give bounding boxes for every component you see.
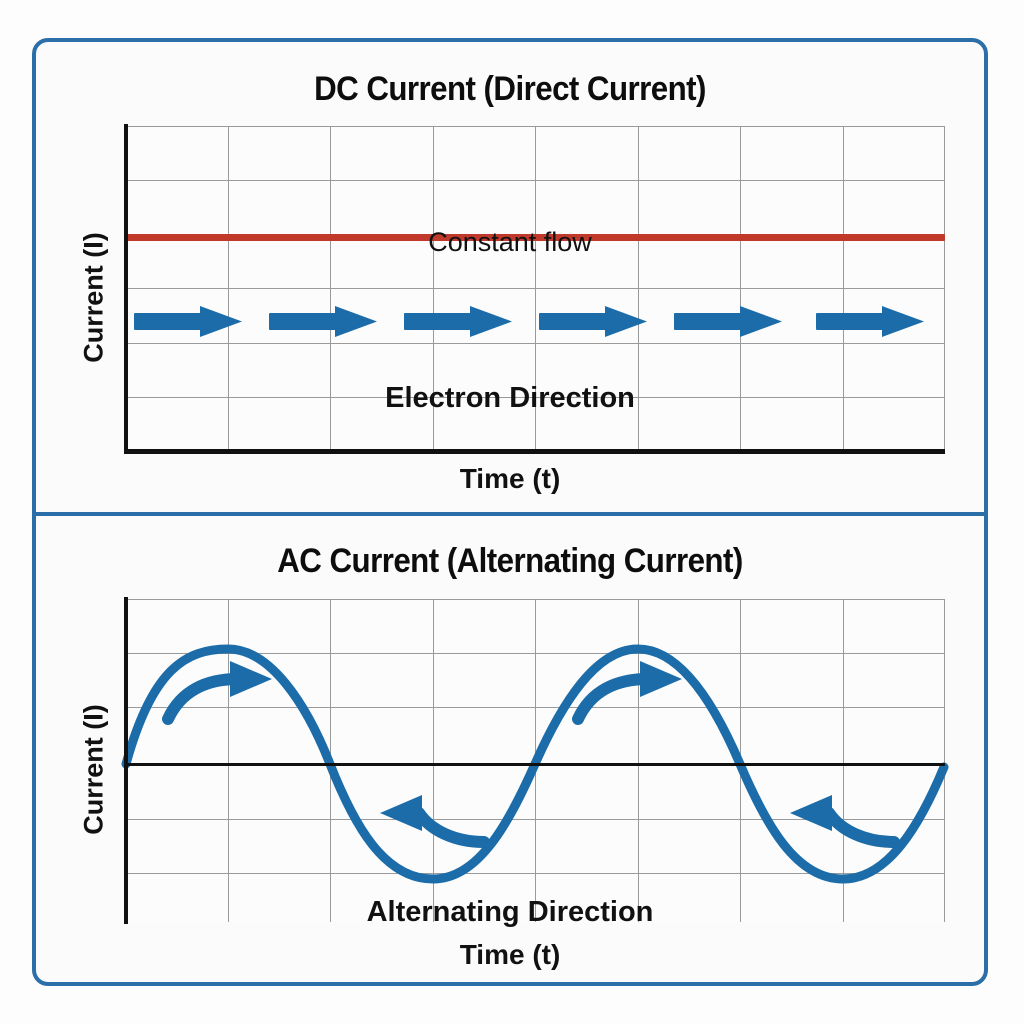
ac-y-axis-label: Current (I) [79, 690, 110, 850]
curved-right-arrow-icon-2 [578, 679, 648, 719]
ac-gridlines [126, 599, 945, 922]
diagram-canvas: DC Current (Direct Current) Current (I) [0, 0, 1024, 1024]
dc-panel-title: DC Current (Direct Current) [74, 70, 946, 109]
diagram-frame: DC Current (Direct Current) Current (I) [32, 38, 988, 986]
dc-constant-flow-label: Constant flow [36, 227, 984, 258]
dc-electron-direction-label: Electron Direction [36, 382, 984, 415]
ac-waveform [126, 599, 945, 922]
ac-panel: AC Current (Alternating Current) Current… [36, 516, 984, 986]
ac-zero-axis [126, 763, 945, 766]
curved-left-arrow-icon-1 [419, 813, 484, 842]
ac-alternating-direction-label: Alternating Direction [36, 896, 984, 929]
ac-plot-area [126, 599, 945, 922]
ac-y-axis [124, 597, 128, 924]
ac-panel-title: AC Current (Alternating Current) [74, 542, 946, 581]
curved-right-arrow-icon-1 [168, 679, 238, 719]
dc-panel: DC Current (Direct Current) Current (I) [36, 42, 984, 512]
ac-x-axis-label: Time (t) [36, 939, 984, 971]
dc-x-axis-label: Time (t) [36, 463, 984, 495]
curved-left-arrow-icon-2 [829, 813, 894, 842]
dc-x-axis [124, 449, 945, 454]
